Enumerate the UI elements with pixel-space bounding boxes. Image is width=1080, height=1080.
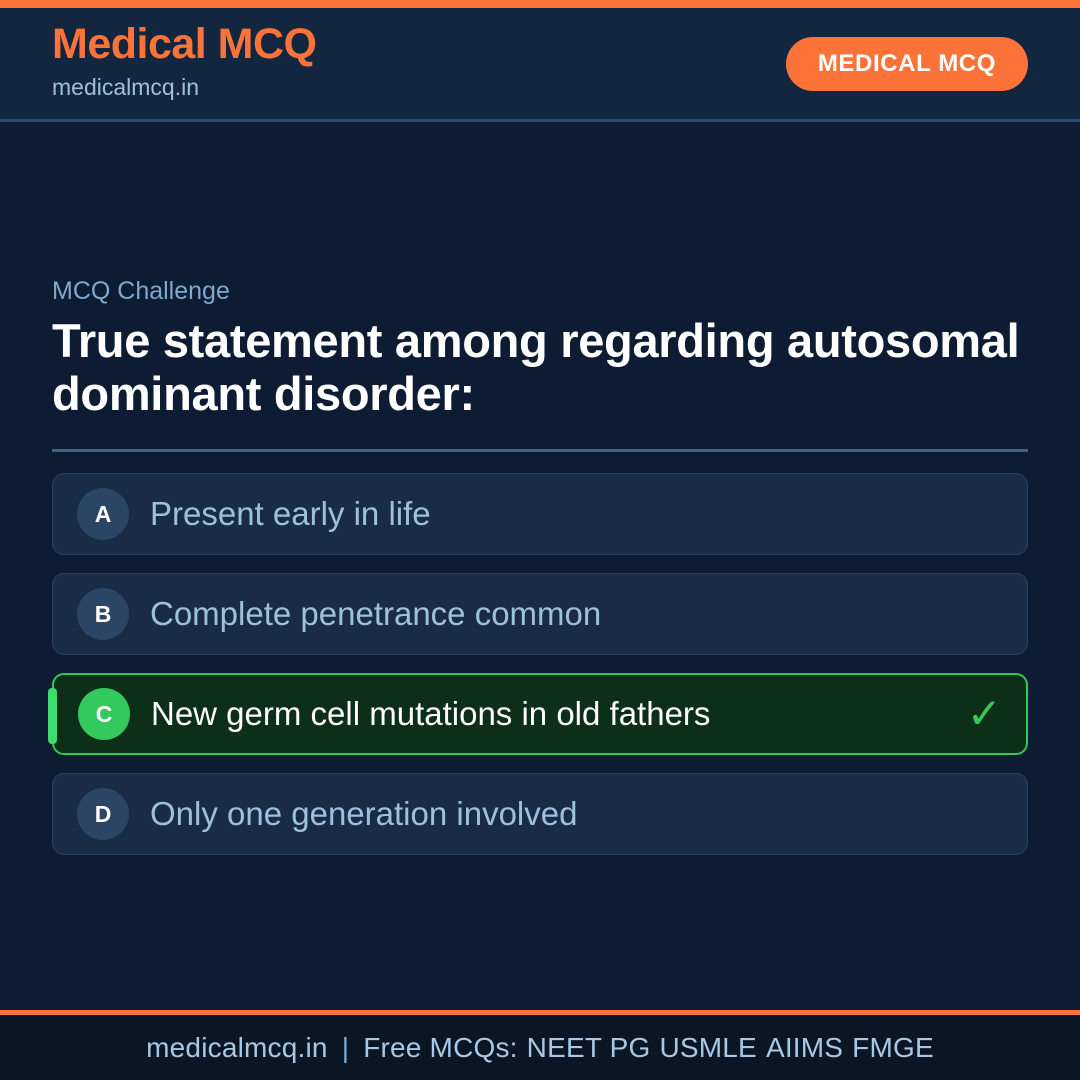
footer: medicalmcq.in|Free MCQs:NEET PGUSMLEAIIM… bbox=[0, 1010, 1080, 1080]
eyebrow-label: MCQ Challenge bbox=[52, 277, 1028, 306]
mcq-card: Medical MCQ medicalmcq.in MEDICAL MCQ MC… bbox=[0, 0, 1080, 1080]
option-a[interactable]: A Present early in life bbox=[52, 473, 1028, 555]
top-accent-bar bbox=[0, 0, 1080, 8]
footer-free-label: Free MCQs: bbox=[363, 1032, 517, 1063]
option-c[interactable]: C New germ cell mutations in old fathers… bbox=[52, 673, 1028, 755]
header: Medical MCQ medicalmcq.in MEDICAL MCQ bbox=[0, 8, 1080, 122]
footer-site: medicalmcq.in bbox=[146, 1032, 328, 1063]
footer-exam-usmle: USMLE bbox=[650, 1032, 756, 1063]
option-letter-badge: D bbox=[77, 788, 129, 840]
correct-accent-bar bbox=[48, 688, 57, 744]
option-d[interactable]: D Only one generation involved bbox=[52, 773, 1028, 855]
footer-separator: | bbox=[328, 1032, 363, 1063]
options-list: A Present early in life B Complete penet… bbox=[52, 473, 1028, 855]
brand: Medical MCQ medicalmcq.in bbox=[52, 23, 317, 104]
option-letter-badge: C bbox=[78, 688, 130, 740]
main-content: MCQ Challenge True statement among regar… bbox=[0, 122, 1080, 1010]
footer-exam-neetpg: NEET PG bbox=[518, 1032, 651, 1063]
option-letter-badge: A bbox=[77, 488, 129, 540]
footer-text: medicalmcq.in|Free MCQs:NEET PGUSMLEAIIM… bbox=[146, 1032, 934, 1064]
footer-exam-fmge: FMGE bbox=[843, 1032, 934, 1063]
footer-exam-aiims: AIIMS bbox=[757, 1032, 843, 1063]
header-badge: MEDICAL MCQ bbox=[786, 37, 1028, 91]
option-letter-badge: B bbox=[77, 588, 129, 640]
check-icon: ✓ bbox=[967, 693, 1002, 735]
divider bbox=[52, 449, 1028, 452]
option-text: Present early in life bbox=[150, 494, 431, 534]
brand-url: medicalmcq.in bbox=[52, 70, 317, 105]
option-b[interactable]: B Complete penetrance common bbox=[52, 573, 1028, 655]
option-text: Complete penetrance common bbox=[150, 594, 601, 634]
question-text: True statement among regarding autosomal… bbox=[52, 315, 1028, 420]
option-text: New germ cell mutations in old fathers bbox=[151, 694, 710, 734]
option-text: Only one generation involved bbox=[150, 794, 577, 834]
brand-title: Medical MCQ bbox=[52, 23, 317, 67]
